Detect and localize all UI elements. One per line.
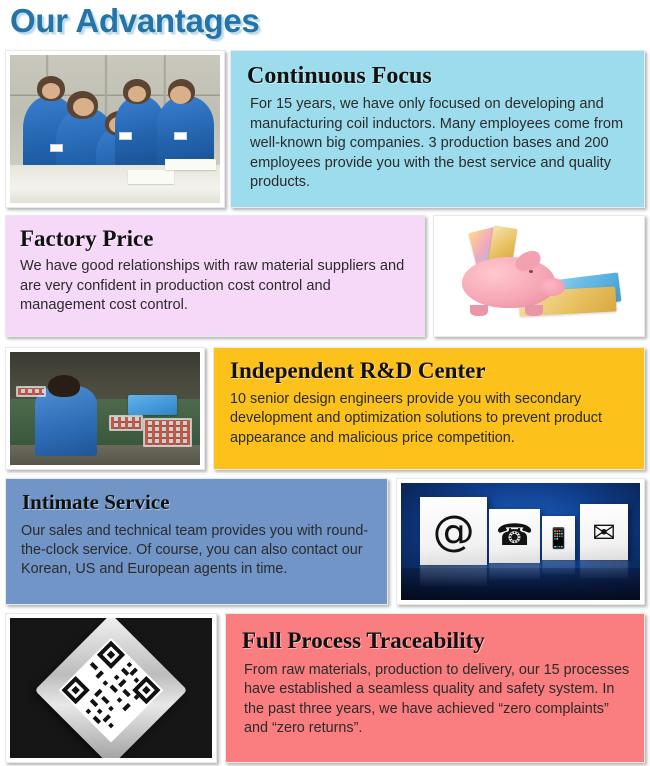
advantage-card-continuous-focus: Continuous Focus For 15 years, we have o… (230, 50, 645, 208)
assembly-worker-photo (5, 347, 205, 470)
at-sign-icon: @ (420, 497, 487, 565)
advantage-body: From raw materials, production to delive… (240, 661, 632, 738)
advantage-title: Continuous Focus (247, 63, 632, 89)
contact-cubes-photo: @ ☎ 📱 ✉ (396, 478, 645, 605)
advantage-title: Full Process Traceability (242, 628, 632, 653)
advantage-card-intimate-service: Intimate Service Our sales and technical… (5, 478, 388, 605)
advantage-row-intimate-service: Intimate Service Our sales and technical… (5, 478, 645, 605)
advantage-title: Independent R&D Center (230, 358, 632, 383)
advantage-row-factory-price: Factory Price We have good relationships… (5, 215, 645, 337)
advantages-page: Our Advantages (0, 0, 650, 766)
qr-code-icon (59, 638, 164, 743)
advantage-card-full-process-traceability: Full Process Traceability From raw mater… (225, 613, 645, 763)
advantage-title: Factory Price (20, 226, 412, 251)
envelope-icon: ✉ (580, 504, 628, 560)
advantage-body: 10 senior design engineers provide you w… (228, 390, 632, 447)
advantage-body: For 15 years, we have only focused on de… (245, 95, 632, 192)
telephone-icon: ☎ (489, 509, 539, 563)
advantage-card-factory-price: Factory Price We have good relationships… (5, 215, 425, 337)
page-title: Our Advantages (10, 2, 259, 40)
mobile-phone-icon: 📱 (542, 516, 575, 560)
advantage-title: Intimate Service (22, 491, 375, 514)
qr-code-pendant-photo (5, 613, 217, 763)
advantage-card-independent-rd-center: Independent R&D Center 10 senior design … (213, 347, 645, 470)
advantage-body: Our sales and technical team provides yo… (20, 522, 375, 579)
advantage-row-independent-rd-center: Independent R&D Center 10 senior design … (5, 347, 645, 470)
piggy-bank-photo (433, 215, 645, 337)
advantage-body: We have good relationships with raw mate… (20, 257, 412, 315)
advantage-row-continuous-focus: Continuous Focus For 15 years, we have o… (5, 50, 645, 208)
factory-workers-photo (5, 50, 225, 208)
advantage-row-full-process-traceability: Full Process Traceability From raw mater… (5, 613, 645, 763)
